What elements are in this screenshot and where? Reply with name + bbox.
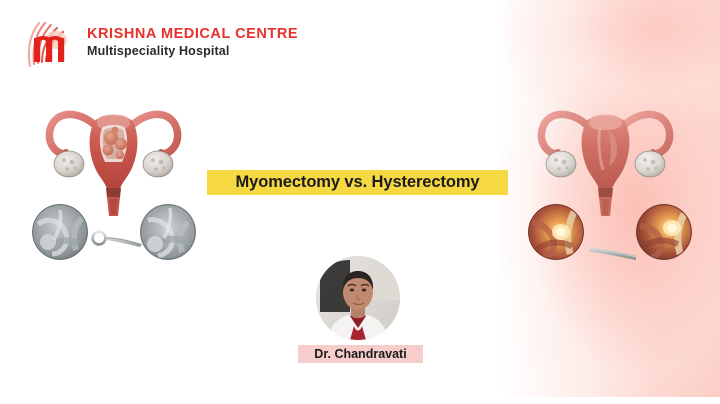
laparoscopic-view-warm-1 — [528, 204, 584, 260]
presentation-slide: KRISHNA MEDICAL CENTRE Multispeciality H… — [0, 0, 720, 404]
brand-name: KRISHNA MEDICAL CENTRE — [87, 27, 298, 42]
right-anatomy-panel — [510, 92, 700, 272]
doctor-portrait-avatar — [316, 256, 400, 340]
brand-tagline: Multispeciality Hospital — [87, 45, 298, 58]
bottom-letterbox — [0, 397, 720, 404]
surgical-probe-icon — [586, 240, 642, 264]
doctor-name-chip: Dr. Chandravati — [298, 345, 423, 363]
slide-title-banner: Myomectomy vs. Hysterectomy — [207, 170, 508, 195]
uterus-illustration-left — [36, 92, 191, 217]
brand-logo-block: KRISHNA MEDICAL CENTRE Multispeciality H… — [22, 14, 298, 70]
laparoscopic-view-grayscale-1 — [32, 204, 88, 260]
left-anatomy-panel — [18, 92, 208, 272]
doctor-name: Dr. Chandravati — [314, 347, 406, 361]
uterus-illustration-right — [528, 92, 683, 217]
page-title: Myomectomy vs. Hysterectomy — [236, 173, 480, 192]
surgical-forceps-icon — [90, 228, 146, 252]
laparoscopic-view-grayscale-2 — [140, 204, 196, 260]
brand-text-block: KRISHNA MEDICAL CENTRE Multispeciality H… — [87, 27, 298, 58]
krishna-m-logo-icon — [22, 14, 80, 70]
laparoscopic-view-warm-2 — [636, 204, 692, 260]
